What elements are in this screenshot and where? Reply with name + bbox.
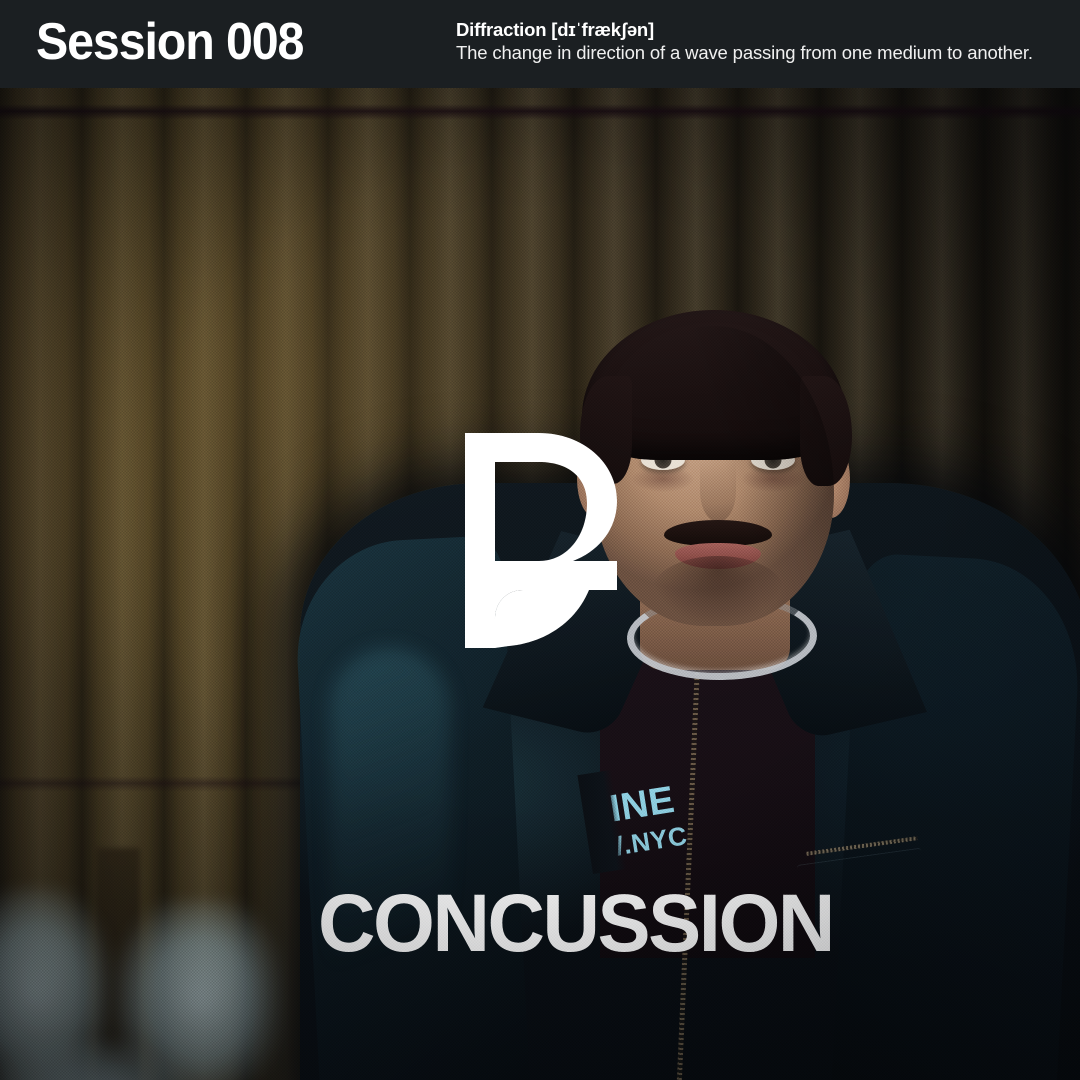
definition-term: Diffraction [dɪˈfrækʃən]: [456, 18, 1056, 41]
session-poster: Session 008 Diffraction [dɪˈfrækʃən] The…: [0, 0, 1080, 1080]
artist-name: CONCUSSION: [318, 881, 833, 967]
diffraction-logo-icon: [465, 433, 617, 648]
session-title: Session 008: [36, 11, 303, 73]
jacket-sleeve-highlight: [330, 648, 450, 1068]
cover-photo: INE /.NYC: [0, 88, 1080, 1080]
header-bar: Session 008 Diffraction [dɪˈfrækʃən] The…: [0, 0, 1080, 88]
definition-text: The change in direction of a wave passin…: [456, 41, 1056, 65]
definition-block: Diffraction [dɪˈfrækʃən] The change in d…: [456, 18, 1056, 65]
